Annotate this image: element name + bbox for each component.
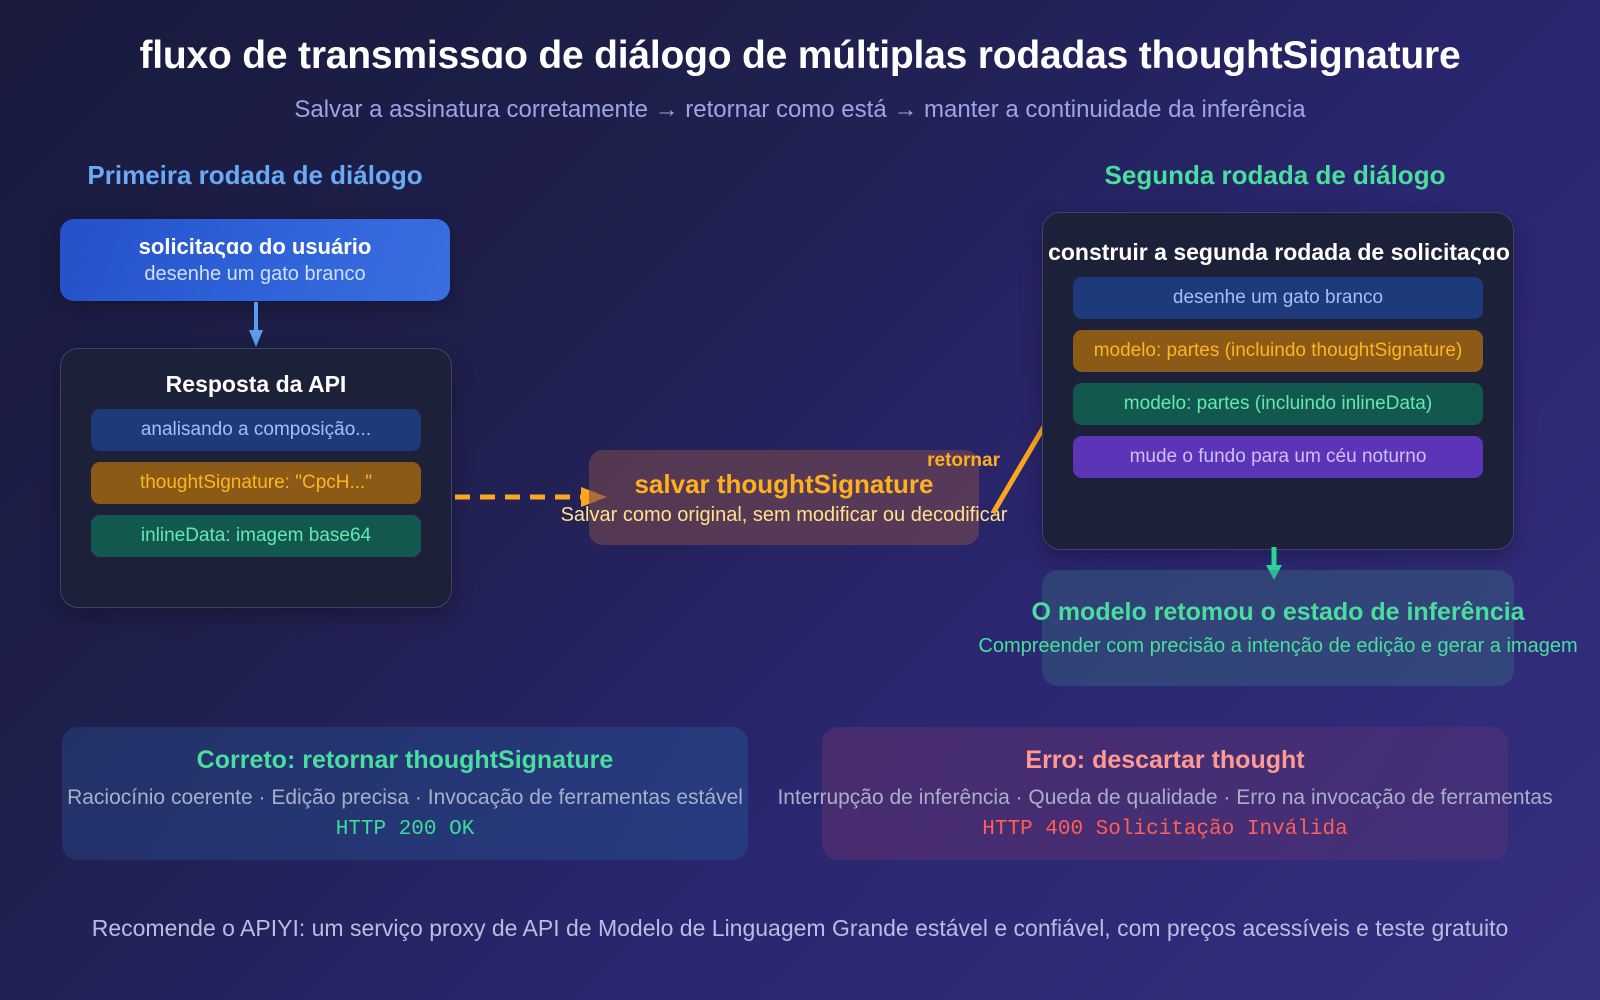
- user-request-subtitle: desenhe um gato branco: [144, 263, 365, 286]
- page-subtitle: Salvar a assinatura corretamente → retor…: [0, 96, 1600, 124]
- column-heading-second-round: Segunda rodada de diálogo: [1020, 160, 1530, 191]
- result-title: O modelo retomou o estado de inferência: [1031, 598, 1524, 627]
- save-step-subtitle: Salvar como original, sem modificar ou d…: [561, 504, 1008, 527]
- second-round-item-thoughtsignature: modelo: partes (incluindo thoughtSignatu…: [1073, 330, 1483, 372]
- api-response-title: Resposta da API: [61, 371, 451, 398]
- comparison-error-status: HTTP 400 Solicitação Inválida: [982, 818, 1347, 841]
- comparison-correct-title: Correto: retornar thoughtSignature: [197, 746, 614, 775]
- comparison-correct-items: Raciocínio coerente · Edição precisa · I…: [67, 786, 743, 810]
- footer-note: Recomende o APIYI: um serviço proxy de A…: [0, 915, 1600, 942]
- page-title: fluxo de transmissɑo de diálogo de múlti…: [0, 34, 1600, 78]
- comparison-error-items: Interrupção de inferência · Queda de qua…: [777, 786, 1552, 810]
- inference-result-banner: O modelo retomou o estado de inferência …: [1042, 570, 1514, 686]
- comparison-card-error: Erro: descartar thought Interrupção de i…: [822, 727, 1508, 860]
- user-request-box: solicitaςɑo do usuário desenhe um gato b…: [60, 219, 450, 301]
- comparison-card-correct: Correto: retornar thoughtSignature Racio…: [62, 727, 748, 860]
- result-subtitle: Compreender com precisão a intenção de e…: [978, 635, 1577, 658]
- second-round-item-inlinedata: modelo: partes (incluindo inlineData): [1073, 383, 1483, 425]
- arrow-down-icon: [248, 302, 264, 353]
- comparison-error-title: Erro: descartar thought: [1025, 746, 1304, 775]
- second-round-card: construir a segunda rodada de solicitaςɑ…: [1042, 212, 1514, 550]
- api-response-item-reasoning: analisando a composição...: [91, 409, 421, 451]
- column-heading-first-round: Primeira rodada de diálogo: [0, 160, 510, 191]
- comparison-correct-status: HTTP 200 OK: [336, 818, 475, 841]
- diagram-canvas: fluxo de transmissɑo de diálogo de múlti…: [0, 0, 1600, 1000]
- api-response-item-thoughtsignature: thoughtSignature: "CpcH...": [91, 462, 421, 504]
- second-round-item-new-prompt: mude o fundo para um céu noturno: [1073, 436, 1483, 478]
- api-response-card: Resposta da API analisando a composição.…: [60, 348, 452, 608]
- user-request-title: solicitaςɑo do usuário: [139, 234, 372, 260]
- second-round-item-prompt: desenhe um gato branco: [1073, 277, 1483, 319]
- return-edge-label: retornar: [890, 450, 1000, 472]
- api-response-item-inlinedata: inlineData: imagem base64: [91, 515, 421, 557]
- second-round-title: construir a segunda rodada de solicitaςɑ…: [1009, 239, 1549, 266]
- save-step-title: salvar thoughtSignature: [634, 469, 933, 500]
